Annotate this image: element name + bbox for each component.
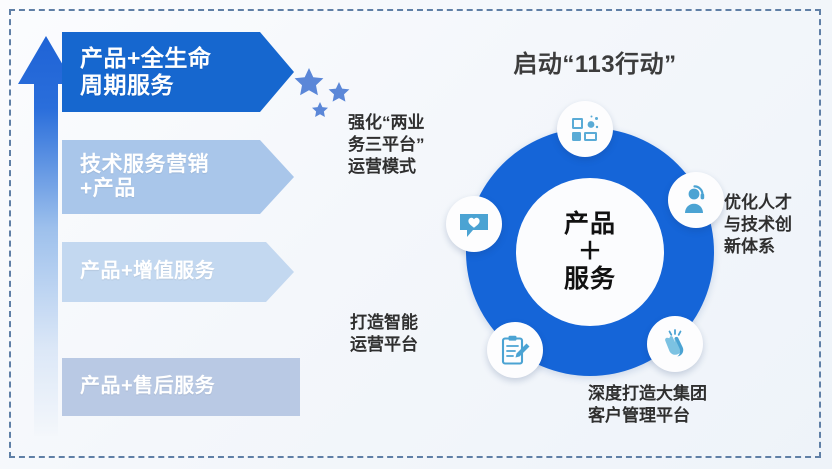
headset-agent-icon[interactable] [668, 172, 724, 228]
factory-building-icon[interactable] [557, 101, 613, 157]
stage-label: 产品+全生命 周期服务 [62, 45, 211, 98]
slide-canvas: 产品+全生命 周期服务 技术服务营销 +产品 产品+增值服务 产品+售后服务 启… [0, 0, 832, 469]
donut-center: 产品 ＋ 服务 [516, 178, 664, 326]
stage-product-value-added-service[interactable]: 产品+增值服务 [62, 242, 294, 302]
core-label-bottom: 服务 [564, 266, 616, 293]
stage-product-after-sales-service[interactable]: 产品+售后服务 [62, 358, 300, 416]
stage-tech-service-marketing-product[interactable]: 技术服务营销 +产品 [62, 140, 294, 214]
callout-bottom-right: 深度打造大集团 客户管理平台 [588, 383, 773, 427]
clapping-hands-icon[interactable] [647, 316, 703, 372]
callout-lower-left: 打造智能 运营平台 [350, 312, 460, 356]
stage-label: 技术服务营销 +产品 [62, 153, 209, 202]
stage-label: 产品+增值服务 [62, 260, 215, 283]
core-label-plus: ＋ [578, 240, 602, 264]
core-label-top: 产品 [564, 211, 616, 238]
callout-right: 优化人才 与技术创 新体系 [724, 192, 824, 258]
callout-upper-left: 强化“两业 务三平台” 运营模式 [348, 112, 468, 178]
page-title: 启动“113行动” [470, 44, 720, 79]
stage-label: 产品+售后服务 [62, 375, 215, 398]
chat-heart-icon[interactable] [446, 196, 502, 252]
clipboard-pencil-icon[interactable] [487, 322, 543, 378]
stage-product-full-lifecycle-service[interactable]: 产品+全生命 周期服务 [62, 32, 294, 112]
